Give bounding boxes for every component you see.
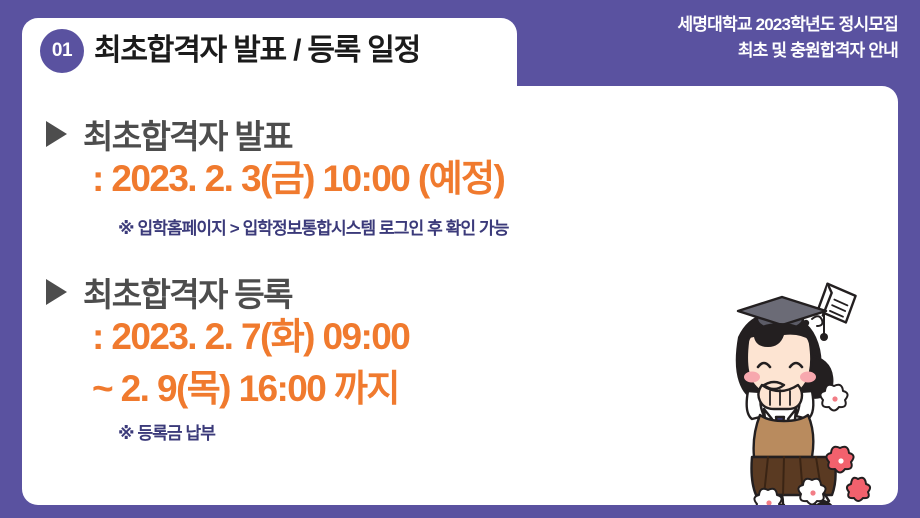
section-2-date-line-2: ~ 2. 9(목) 16:00 까지 <box>92 358 399 412</box>
section-1-date-line-1: : 2023. 2. 3(금) 10:00 (예정) <box>92 148 504 202</box>
header-bar: 01 최초합격자 발표 / 등록 일정 세명대학교 2023학년도 정시모집 최… <box>0 0 920 86</box>
content-card: 최초합격자 발표 : 2023. 2. 3(금) 10:00 (예정) ※ 입학… <box>22 86 898 505</box>
section-2-note: ※ 등록금 납부 <box>118 419 215 444</box>
graduating-schoolgirl-illustration <box>708 275 888 505</box>
slide-canvas: 01 최초합격자 발표 / 등록 일정 세명대학교 2023학년도 정시모집 최… <box>0 0 920 518</box>
header-subtitle: 세명대학교 2023학년도 정시모집 최초 및 충원합격자 안내 <box>677 12 898 64</box>
triangle-right-icon <box>46 121 67 147</box>
header-subtitle-line2: 최초 및 충원합격자 안내 <box>677 38 898 64</box>
section-2-date-line-1: : 2023. 2. 7(화) 09:00 <box>92 306 409 360</box>
header-subtitle-line1: 세명대학교 2023학년도 정시모집 <box>677 12 898 38</box>
section-number-badge: 01 <box>40 29 84 73</box>
section-1-note: ※ 입학홈페이지 > 입학정보통합시스템 로그인 후 확인 가능 <box>118 214 508 239</box>
page-title: 최초합격자 발표 / 등록 일정 <box>94 29 420 73</box>
header-title-tab: 01 최초합격자 발표 / 등록 일정 <box>22 18 517 86</box>
triangle-right-icon <box>46 279 67 305</box>
